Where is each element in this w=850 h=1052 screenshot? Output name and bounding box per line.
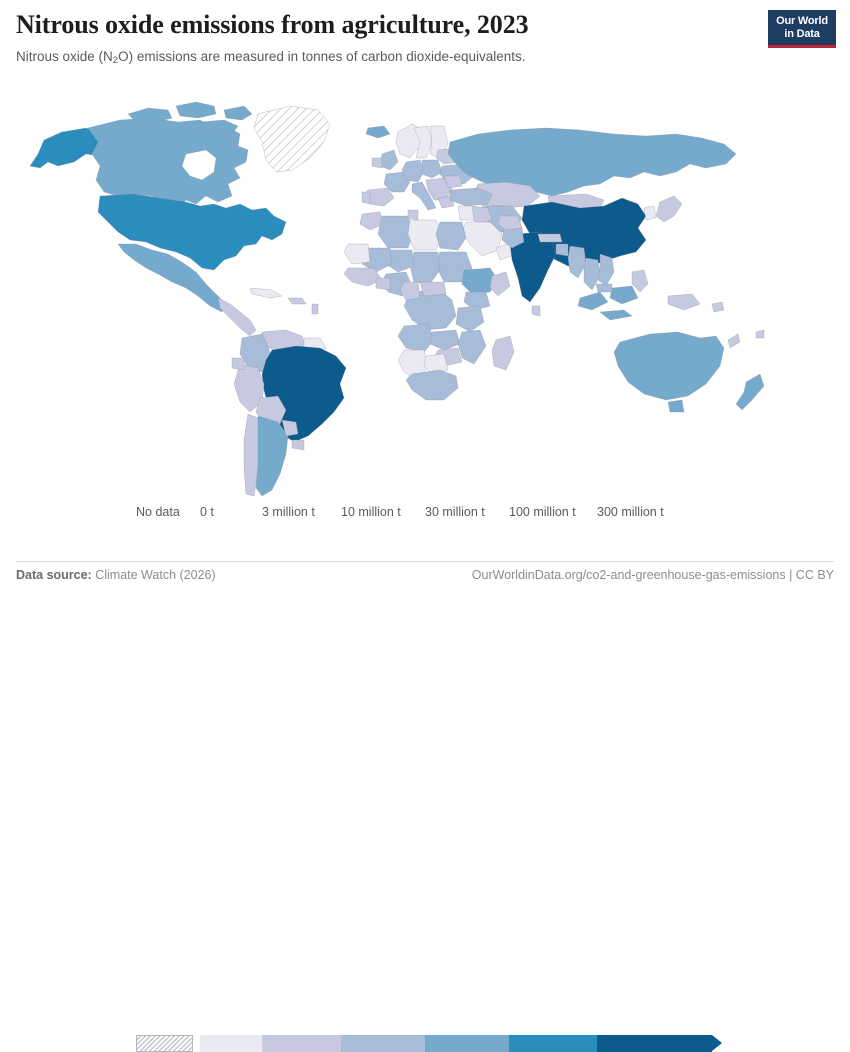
region-canada-arctic-2[interactable]	[176, 102, 216, 118]
region-canada-arctic-4[interactable]	[224, 106, 252, 120]
legend-bin-4	[509, 1035, 597, 1052]
region-caribbean-islands[interactable]	[312, 304, 318, 314]
region-madagascar[interactable]	[492, 336, 514, 370]
region-poland[interactable]	[422, 160, 442, 178]
region-papua-new-guinea[interactable]	[668, 294, 700, 310]
region-australia[interactable]	[614, 332, 724, 400]
legend-label-tick-0: 0 t	[200, 505, 214, 519]
legend-bin-5	[597, 1035, 712, 1052]
license-link[interactable]: OurWorldinData.org/co2-and-greenhouse-ga…	[472, 568, 834, 582]
region-korea[interactable]	[644, 206, 656, 220]
world-choropleth-map[interactable]	[0, 92, 850, 502]
region-angola[interactable]	[398, 324, 434, 352]
subtitle-subscript: 2	[113, 55, 118, 66]
legend-arrow-tip	[712, 1035, 722, 1051]
region-hispaniola[interactable]	[288, 298, 306, 304]
region-bangladesh[interactable]	[556, 244, 568, 256]
region-zambia[interactable]	[430, 330, 460, 350]
region-tasmania[interactable]	[668, 400, 684, 412]
data-source: Data source: Climate Watch (2026)	[16, 568, 216, 582]
legend-bin-0	[200, 1035, 262, 1052]
logo-line-1: Our World	[773, 15, 831, 28]
region-japan[interactable]	[656, 196, 682, 222]
footer-divider	[16, 561, 834, 562]
region-ghana-coast[interactable]	[376, 278, 390, 290]
legend-label-tick-5: 300 million t	[597, 505, 664, 519]
legend-label-tick-1: 3 million t	[262, 505, 315, 519]
chart-header: Nitrous oxide emissions from agriculture…	[16, 10, 834, 66]
legend-tick-labels: No data 0 t 3 million t 10 million t 30 …	[0, 505, 850, 522]
legend-label-tick-3: 30 million t	[425, 505, 485, 519]
region-central-america[interactable]	[218, 298, 256, 336]
region-syria-jordan[interactable]	[458, 206, 474, 220]
subtitle-part-2: O) emissions are measured in tonnes of c…	[118, 49, 525, 64]
region-mozambique[interactable]	[458, 330, 486, 364]
owid-logo[interactable]: Our World in Data	[768, 10, 836, 48]
region-fiji[interactable]	[756, 330, 764, 338]
region-ireland[interactable]	[372, 158, 382, 168]
region-canada-arctic-1[interactable]	[128, 108, 172, 122]
region-tanzania[interactable]	[456, 306, 484, 332]
legend-no-data-swatch[interactable]	[136, 1035, 193, 1052]
region-cuba[interactable]	[250, 288, 282, 298]
region-uruguay[interactable]	[292, 440, 304, 450]
region-new-caledonia[interactable]	[728, 334, 740, 348]
map-legend: No data 0 t 3 million t 10 million t 30 …	[0, 505, 850, 555]
region-sri-lanka[interactable]	[532, 306, 540, 316]
region-cameroon[interactable]	[400, 282, 420, 300]
subtitle-part-1: Nitrous oxide (N	[16, 49, 113, 64]
legend-label-tick-4: 100 million t	[509, 505, 576, 519]
chart-subtitle: Nitrous oxide (N2O) emissions are measur…	[16, 48, 834, 66]
region-egypt[interactable]	[436, 222, 466, 250]
region-united-states[interactable]	[98, 194, 286, 270]
region-ecuador[interactable]	[232, 358, 244, 370]
owid-chart: Nitrous oxide emissions from agriculture…	[0, 0, 850, 600]
region-solomon-islands[interactable]	[712, 302, 724, 312]
region-malaysia[interactable]	[596, 284, 612, 292]
chart-footer: Data source: Climate Watch (2026) OurWor…	[16, 568, 834, 588]
region-nepal-bhutan[interactable]	[538, 234, 562, 242]
page-title: Nitrous oxide emissions from agriculture…	[16, 10, 834, 39]
legend-bin-3	[425, 1035, 509, 1052]
region-philippines[interactable]	[632, 270, 648, 292]
region-new-zealand[interactable]	[736, 374, 764, 410]
region-somalia[interactable]	[490, 272, 510, 296]
legend-bin-2	[341, 1035, 425, 1052]
logo-line-2: in Data	[773, 28, 831, 41]
region-iceland[interactable]	[366, 126, 390, 138]
region-indonesia-sumatra[interactable]	[578, 292, 608, 310]
data-source-label: Data source:	[16, 568, 92, 582]
region-canada-arctic-3[interactable]	[200, 120, 238, 134]
region-car[interactable]	[420, 282, 446, 296]
legend-bin-1	[262, 1035, 341, 1052]
map-svg	[0, 92, 850, 502]
region-portugal[interactable]	[362, 192, 370, 204]
data-source-value: Climate Watch (2026)	[95, 568, 215, 582]
region-tunisia[interactable]	[408, 210, 418, 220]
region-mauritania[interactable]	[344, 244, 370, 264]
region-greenland-no-data[interactable]	[254, 106, 330, 172]
region-indonesia-java[interactable]	[600, 310, 632, 320]
region-south-africa[interactable]	[406, 370, 458, 400]
legend-label-no-data: No data	[136, 505, 180, 519]
region-indonesia-borneo[interactable]	[610, 286, 638, 304]
region-vietnam[interactable]	[598, 254, 614, 286]
region-chad[interactable]	[410, 252, 440, 284]
legend-label-tick-2: 10 million t	[341, 505, 401, 519]
region-united-kingdom[interactable]	[380, 150, 398, 170]
region-myanmar[interactable]	[568, 246, 586, 278]
